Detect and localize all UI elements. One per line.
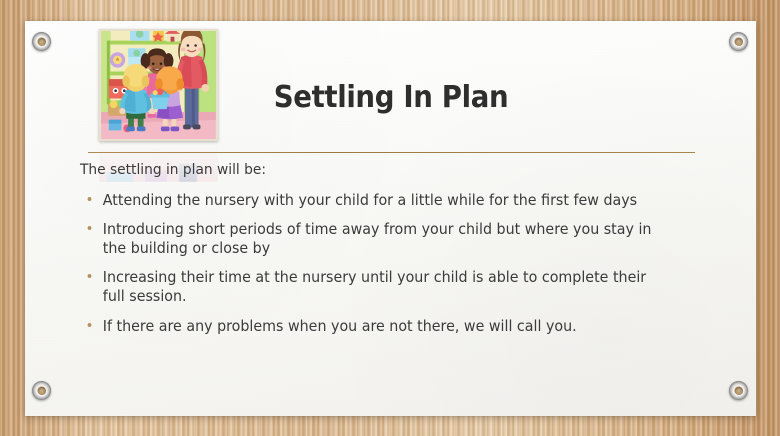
list-item: If there are any problems when you are n… (80, 317, 669, 336)
nursery-clipart (99, 29, 218, 141)
list-item-text: If there are any problems when you are n… (103, 317, 577, 335)
corner-screw-icon-bottom-left (32, 381, 51, 400)
corner-screw-icon-bottom-right (729, 381, 748, 400)
list-item-text: Introducing short periods of time away f… (103, 220, 652, 257)
list-item: Introducing short periods of time away f… (80, 220, 669, 257)
list-item: Increasing their time at the nursery unt… (80, 268, 669, 305)
corner-screw-icon-top-right (729, 32, 748, 51)
bullet-dot-icon (88, 226, 92, 230)
list-item-text: Attending the nursery with your child fo… (103, 191, 637, 209)
bullet-dot-icon (88, 323, 92, 327)
slide-body: The settling in plan will be: Attending … (80, 161, 700, 346)
slide-root: Settling In Plan The settling in plan wi… (0, 0, 780, 436)
page-title: Settling In Plan (248, 81, 533, 114)
title-divider (88, 152, 695, 153)
list-item: Attending the nursery with your child fo… (80, 191, 669, 210)
nursery-clipart-frame (99, 29, 218, 141)
corner-screw-icon-top-left (32, 32, 51, 51)
bullet-dot-icon (88, 197, 92, 201)
intro-line: The settling in plan will be: (80, 161, 669, 181)
bullet-list: Attending the nursery with your child fo… (80, 191, 700, 336)
bullet-dot-icon (88, 274, 92, 278)
nursery-scene-illustration (101, 31, 216, 139)
list-item-text: Increasing their time at the nursery unt… (103, 268, 646, 305)
